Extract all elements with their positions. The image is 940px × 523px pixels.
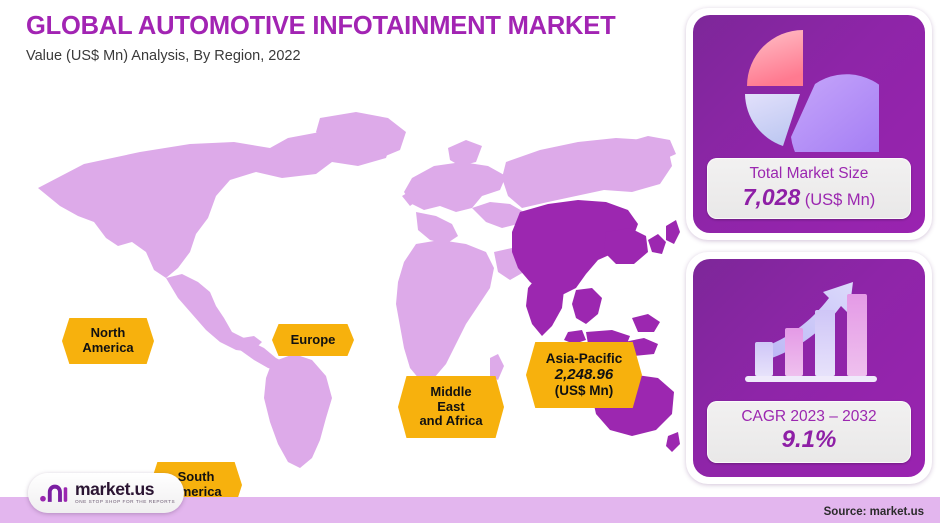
growth-bar-chart-icon bbox=[729, 266, 889, 394]
map-label-europe-line1: Europe bbox=[291, 333, 336, 348]
total-market-size-card[interactable]: Total Market Size 7,028 (US$ Mn) bbox=[686, 8, 932, 240]
market-us-logo-text: market.us ONE STOP SHOP FOR THE REPORTS bbox=[75, 481, 175, 505]
map-label-asia-pacific[interactable]: Asia-Pacific 2,248.96 (US$ Mn) bbox=[526, 342, 642, 408]
world-map: North America Europe South America Middl… bbox=[20, 92, 680, 472]
map-label-asia-pacific-unit: (US$ Mn) bbox=[555, 383, 614, 398]
total-market-size-card-inner: Total Market Size 7,028 (US$ Mn) bbox=[693, 15, 925, 233]
market-us-logo[interactable]: market.us ONE STOP SHOP FOR THE REPORTS bbox=[28, 473, 184, 513]
market-us-logo-tagline: ONE STOP SHOP FOR THE REPORTS bbox=[75, 500, 175, 505]
total-market-size-value: 7,028 bbox=[743, 184, 801, 210]
page-subtitle: Value (US$ Mn) Analysis, By Region, 2022 bbox=[26, 48, 666, 65]
map-label-north-america[interactable]: North America bbox=[62, 318, 154, 364]
map-label-europe[interactable]: Europe bbox=[272, 324, 354, 356]
infographic-canvas: GLOBAL AUTOMOTIVE INFOTAINMENT MARKET Va… bbox=[0, 0, 940, 523]
total-market-size-value-panel: Total Market Size 7,028 (US$ Mn) bbox=[707, 158, 911, 219]
cagr-card-inner: CAGR 2023 – 2032 9.1% bbox=[693, 259, 925, 477]
pie-chart-icon bbox=[739, 20, 879, 152]
cagr-value: 9.1% bbox=[782, 426, 837, 453]
market-us-logo-name: market.us bbox=[75, 481, 175, 499]
map-highlight-asia-pacific bbox=[512, 200, 680, 452]
map-label-mea-line1: Middle bbox=[430, 385, 471, 400]
map-label-south-america-line1: South bbox=[178, 470, 215, 485]
source-text: Source: market.us bbox=[824, 506, 924, 518]
map-label-north-america-line2: America bbox=[82, 341, 133, 356]
cagr-card[interactable]: CAGR 2023 – 2032 9.1% bbox=[686, 252, 932, 484]
pie-chart-illustration bbox=[693, 15, 925, 158]
total-market-size-label: Total Market Size bbox=[713, 165, 905, 183]
total-market-size-value-row: 7,028 (US$ Mn) bbox=[713, 184, 905, 210]
map-label-asia-pacific-name: Asia-Pacific bbox=[546, 351, 623, 366]
map-label-mea-line3: and Africa bbox=[419, 414, 482, 429]
map-label-middle-east-and-africa[interactable]: Middle East and Africa bbox=[398, 376, 504, 438]
total-market-size-unit: (US$ Mn) bbox=[805, 191, 876, 209]
header: GLOBAL AUTOMOTIVE INFOTAINMENT MARKET Va… bbox=[26, 12, 666, 65]
cagr-value-row: 9.1% bbox=[713, 426, 905, 454]
cagr-value-panel: CAGR 2023 – 2032 9.1% bbox=[707, 401, 911, 463]
map-label-north-america-line1: North bbox=[91, 326, 126, 341]
page-title: GLOBAL AUTOMOTIVE INFOTAINMENT MARKET bbox=[26, 12, 666, 41]
world-map-svg bbox=[20, 92, 680, 472]
map-label-mea-line2: East bbox=[437, 400, 464, 415]
market-us-logo-icon bbox=[39, 481, 69, 505]
cagr-label: CAGR 2023 – 2032 bbox=[713, 408, 905, 426]
map-label-asia-pacific-value: 2,248.96 bbox=[555, 367, 613, 384]
growth-chart-illustration bbox=[693, 259, 925, 401]
